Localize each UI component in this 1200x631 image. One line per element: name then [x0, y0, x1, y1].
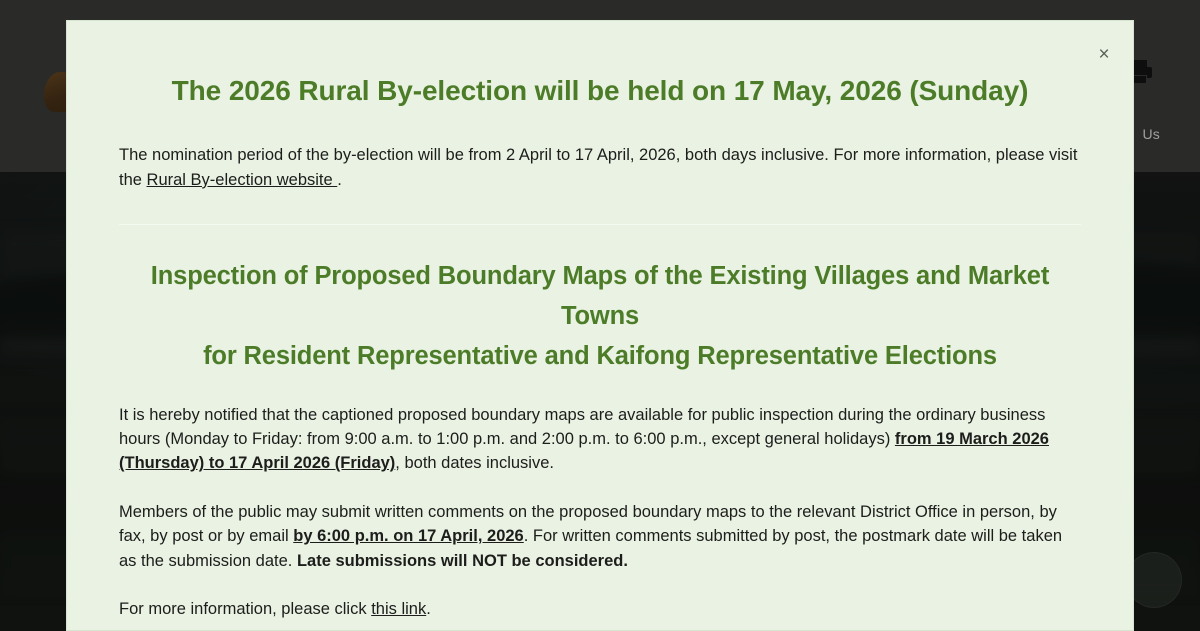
close-icon[interactable]: ×	[1088, 38, 1120, 70]
page-root: Us × The 2026 Rural By-election will be …	[0, 0, 1200, 631]
notice-subtitle-line2: for Resident Representative and Kaifong …	[203, 342, 997, 370]
rural-by-election-website-link[interactable]: Rural By-election website	[147, 171, 338, 189]
notice-subtitle: Inspection of Proposed Boundary Maps of …	[119, 257, 1081, 376]
paragraph3-part2: .	[426, 600, 431, 618]
notice-paragraph-inspection: It is hereby notified that the captioned…	[119, 403, 1081, 476]
paragraph1-part2: , both dates inclusive.	[395, 454, 554, 472]
notice-modal: × The 2026 Rural By-election will be hel…	[66, 20, 1134, 631]
notice-paragraph-comments: Members of the public may submit written…	[119, 500, 1081, 573]
notice-title: The 2026 Rural By-election will be held …	[119, 73, 1081, 109]
notice-paragraph-more-info: For more information, please click this …	[119, 597, 1081, 621]
modal-body: The 2026 Rural By-election will be held …	[67, 21, 1133, 621]
notice-subtitle-line1: Inspection of Proposed Boundary Maps of …	[151, 262, 1049, 330]
more-information-link[interactable]: this link	[371, 600, 426, 618]
section-divider	[119, 224, 1081, 225]
paragraph2-late-submission-warning: Late submissions will NOT be considered.	[297, 552, 628, 570]
lede-text-part2: .	[337, 171, 342, 189]
notice-lede: The nomination period of the by-election…	[119, 143, 1081, 192]
paragraph2-deadline: by 6:00 p.m. on 17 April, 2026	[293, 527, 523, 545]
paragraph3-part1: For more information, please click	[119, 600, 371, 618]
